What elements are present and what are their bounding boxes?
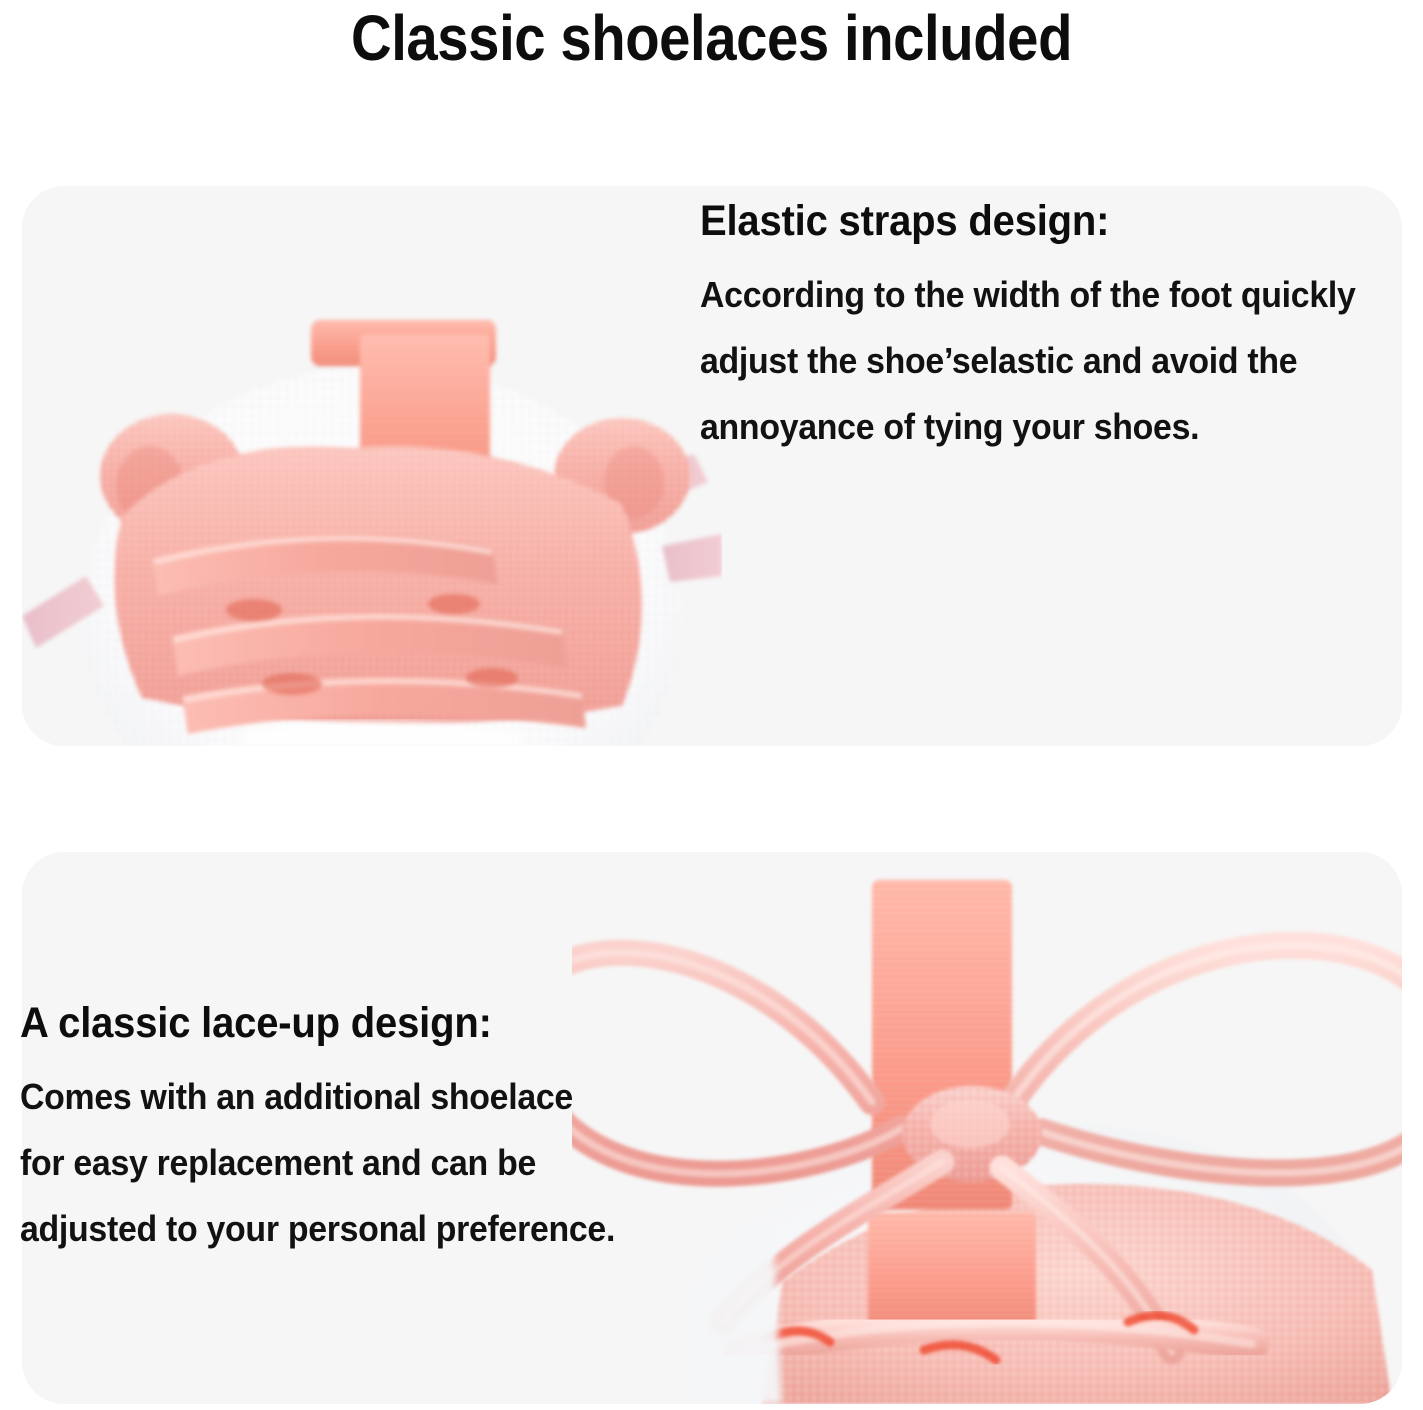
feature-text-lace-up: A classic lace-up design: Comes with an …	[0, 998, 640, 1262]
body-line: annoyance of tying your shoes.	[700, 394, 1367, 460]
shoe-elastic-straps-photo	[22, 186, 722, 746]
feature-text-elastic-straps: Elastic straps design: According to the …	[700, 196, 1410, 460]
section-heading-elastic-straps: Elastic straps design:	[700, 196, 1360, 246]
section-heading-lace-up: A classic lace-up design:	[20, 998, 597, 1048]
product-feature-page: Classic shoelaces included	[0, 0, 1423, 1410]
body-line: adjust the shoe’selastic and avoid the	[700, 328, 1367, 394]
body-line: for easy replacement and can be	[20, 1130, 603, 1196]
page-title: Classic shoelaces included	[85, 2, 1337, 74]
section-body-lace-up: Comes with an additional shoelace for ea…	[20, 1064, 603, 1262]
body-line: adjusted to your personal preference.	[20, 1196, 603, 1262]
body-line: Comes with an additional shoelace	[20, 1064, 603, 1130]
shoe-lace-up-bow-photo	[572, 852, 1402, 1404]
section-body-elastic-straps: According to the width of the foot quick…	[700, 262, 1367, 460]
body-line: According to the width of the foot quick…	[700, 262, 1367, 328]
